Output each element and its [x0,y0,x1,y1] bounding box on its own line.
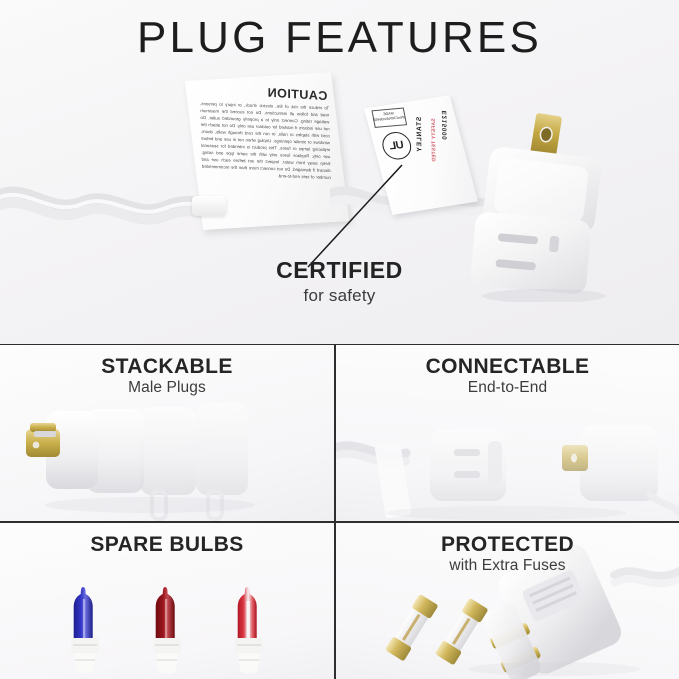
panel-subtitle-stackable: Male Plugs [0,379,334,397]
ul-red-text: SAFETY TESTED [431,118,438,162]
caution-heading: CAUTION [198,82,327,104]
ul-logo-icon: UL [380,131,414,161]
panel-stackable: STACKABLE Male Plugs [0,345,334,521]
hero-panel: PLUG FEATURES CAUTION To reduce the risk… [0,0,679,344]
dark-red-bulb-icon [144,585,190,679]
page-title: PLUG FEATURES [0,16,679,60]
panel-protected: PROTECTED with Extra Fuses [336,523,679,679]
twisted-cord-left [0,168,224,238]
panel-subtitle-connectable: End-to-End [336,379,679,397]
panel-spare-bulbs: SPARE BULBS [0,523,334,679]
panel-connectable: CONNECTABLE End-to-End [336,345,679,521]
certified-callout: CERTIFIED for safety [0,258,679,306]
panel-title-spare-bulbs: SPARE BULBS [0,533,334,556]
protected-heading-group: PROTECTED with Extra Fuses [336,523,679,575]
blue-bulb-icon [62,585,108,679]
spare-bulbs-heading-group: SPARE BULBS [0,523,334,556]
plug-features-infographic: PLUG FEATURES CAUTION To reduce the risk… [0,0,679,679]
cord-sleeve [192,196,226,216]
panel-subtitle-protected: with Extra Fuses [336,557,679,575]
bright-red-bulb-icon [226,585,272,679]
callout-subtitle: for safety [0,286,679,306]
ul-serial-number: E215000 [441,111,449,141]
panel-title-connectable: CONNECTABLE [336,355,679,378]
callout-title: CERTIFIED [0,258,679,284]
ul-brand-text: STANLEY [416,117,424,153]
stackable-heading-group: STACKABLE Male Plugs [0,345,334,397]
panel-title-protected: PROTECTED [336,533,679,556]
panel-title-stackable: STACKABLE [0,355,334,378]
caution-fineprint: To reduce the risk of fire, electric sho… [200,101,331,181]
connectable-heading-group: CONNECTABLE End-to-End [336,345,679,397]
spare-bulbs-art [0,585,334,679]
spare-fuses-art [378,595,508,665]
origin-box: MADE IN\nCHINA\n0646D [371,108,407,128]
